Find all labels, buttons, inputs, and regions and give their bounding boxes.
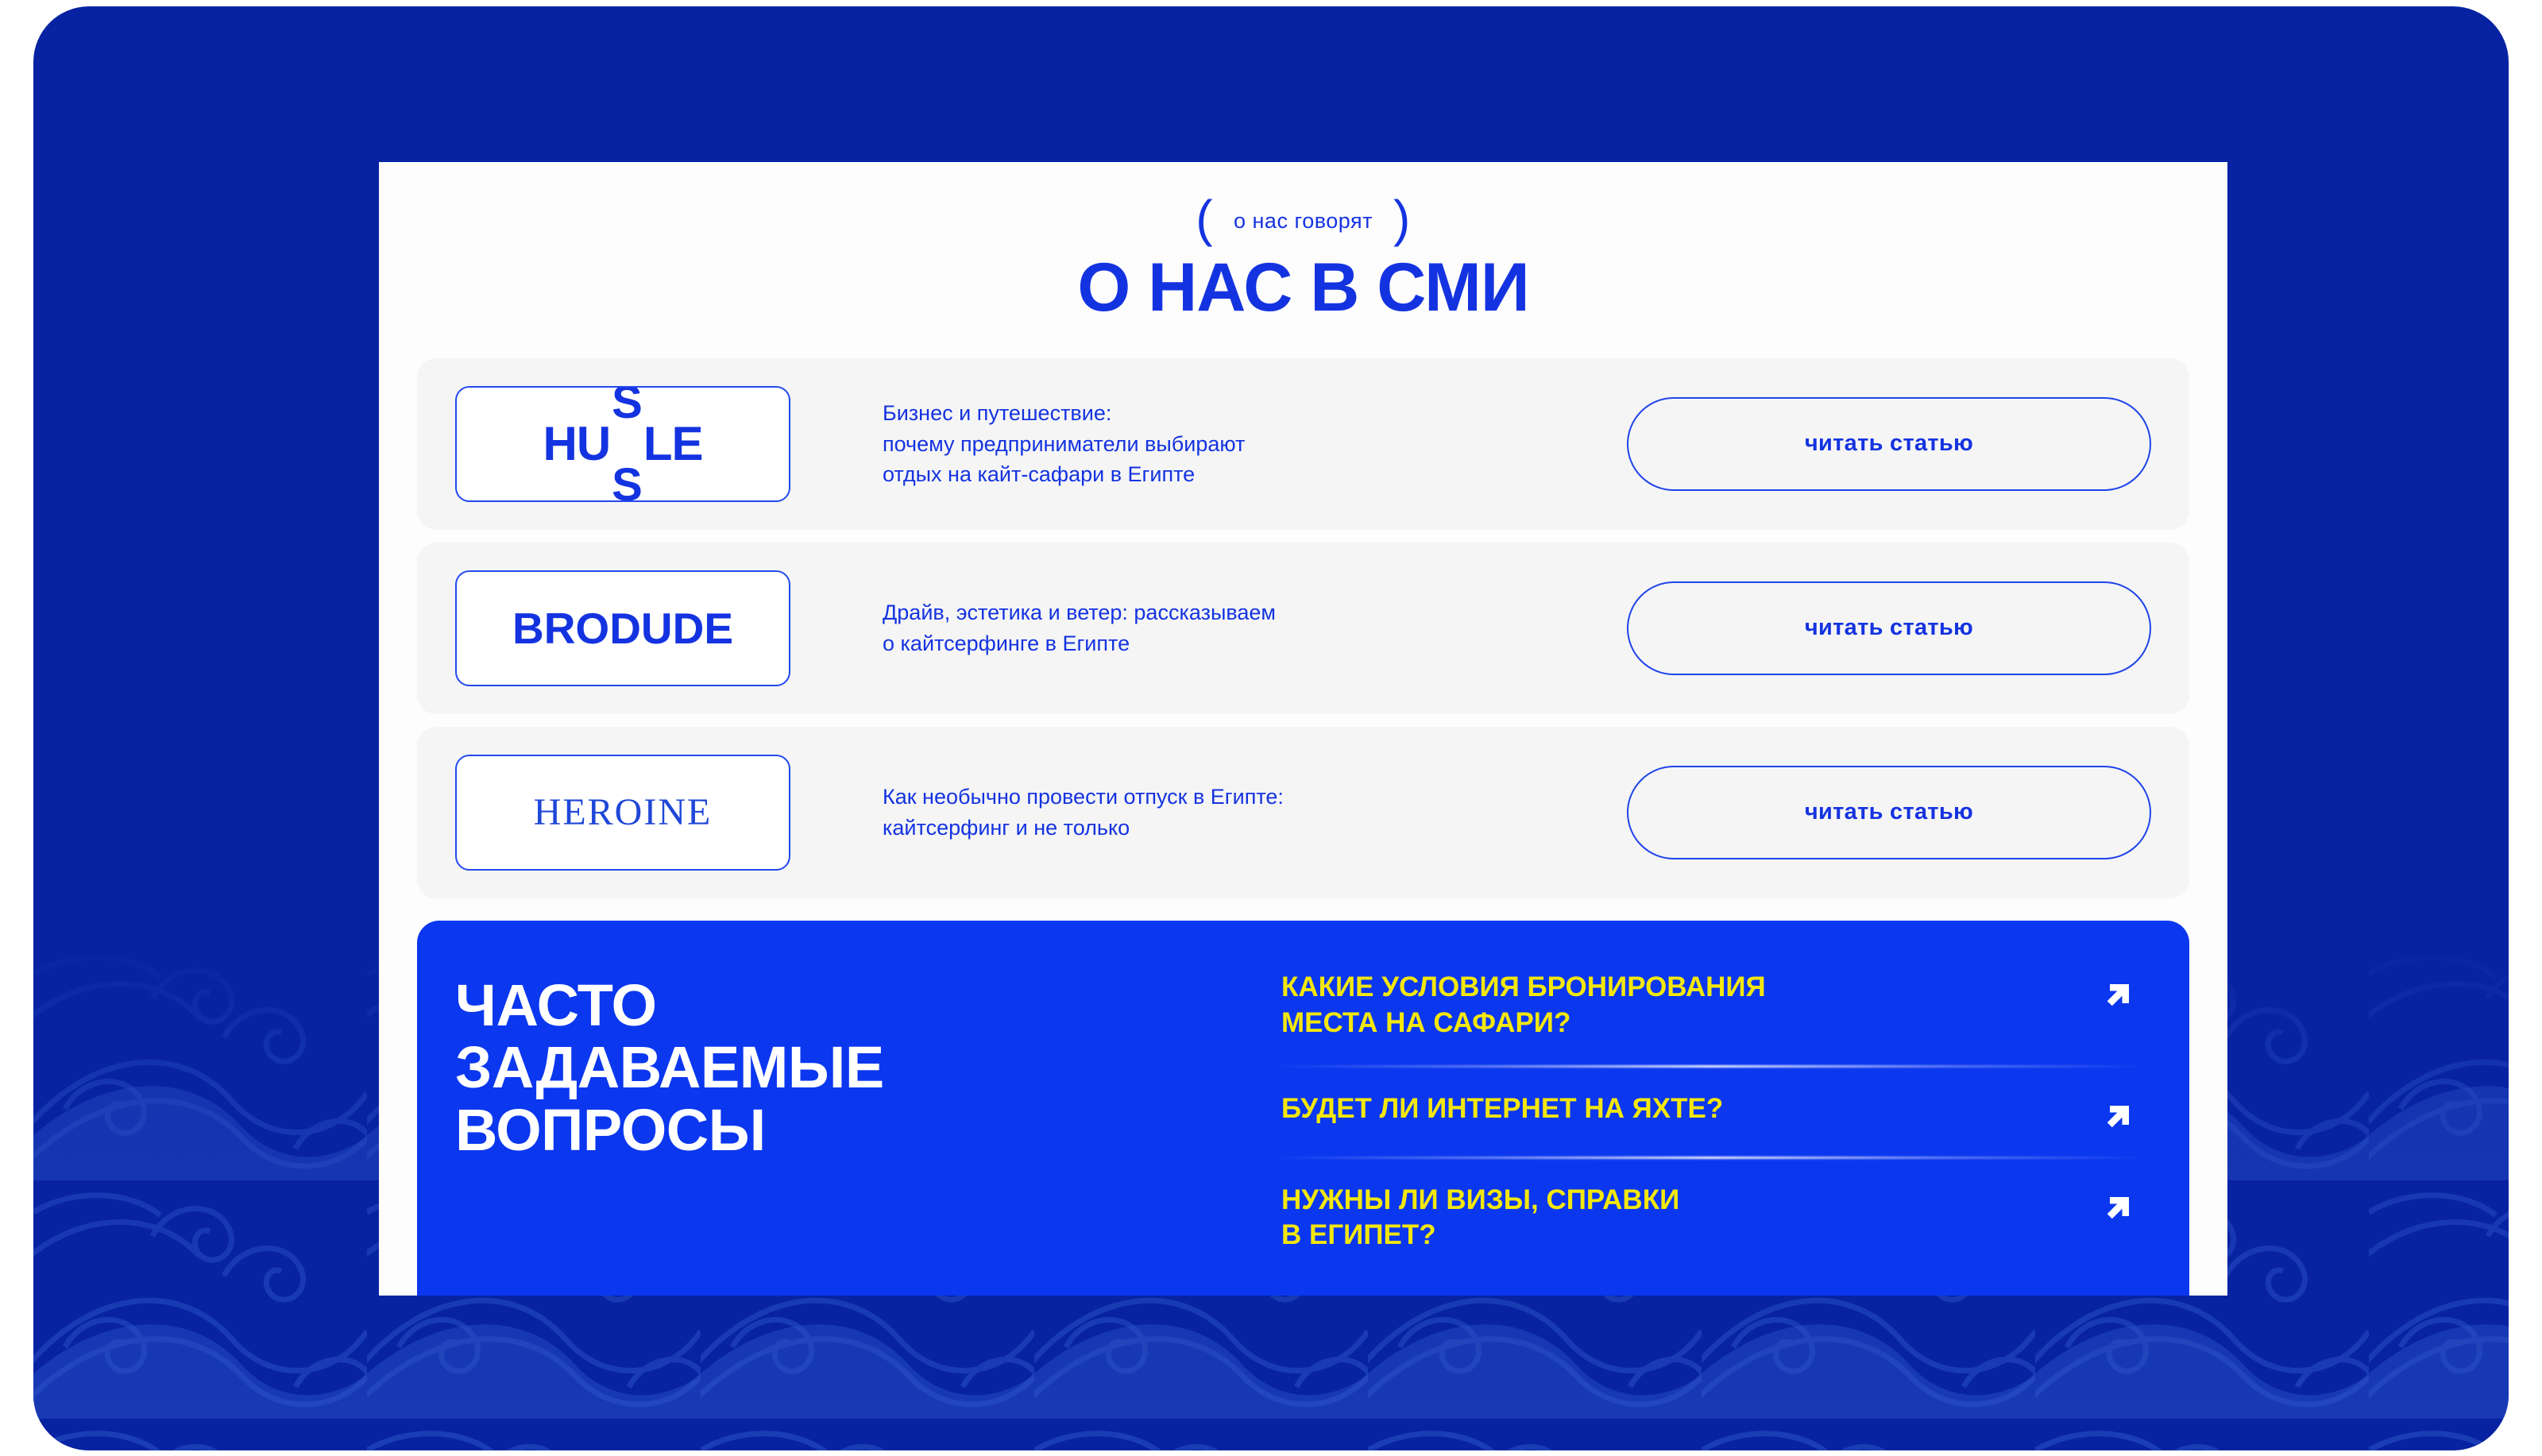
hussle-logo-lead: HU [543,420,610,468]
arrow-up-right-icon [2102,1096,2138,1133]
faq-divider [1281,1065,2138,1068]
hussle-logo-tail: LE [643,420,703,468]
hussle-logo-stack-bottom: S [612,471,642,500]
read-article-button[interactable]: читать статью [1627,766,2151,859]
faq-question: БУДЕТ ЛИ ИНТЕРНЕТ НА ЯХТЕ? [1281,1091,1723,1127]
press-headline: Как необычно провести отпуск в Египте: к… [883,782,1597,843]
faq-divider [1281,1157,2138,1159]
press-row[interactable]: HU S S LE Бизнес и путешествие: почему п… [417,358,2189,530]
faq-section: ЧАСТО ЗАДАВАЕМЫЕ ВОПРОСЫ КАКИЕ УСЛОВИЯ Б… [417,921,2189,1296]
press-headline: Бизнес и путешествие: почему предпринима… [883,398,1597,489]
press-headline: Драйв, эстетика и ветер: рассказываем о … [883,597,1597,658]
faq-item-list: КАКИЕ УСЛОВИЯ БРОНИРОВАНИЯ МЕСТА НА САФА… [1281,965,2138,1296]
read-article-button[interactable]: читать статью [1627,397,2151,491]
hussle-logo-text: HU S S LE [543,415,702,473]
faq-title: ЧАСТО ЗАДАВАЕМЫЕ ВОПРОСЫ [455,965,1250,1296]
arrow-up-right-icon [2102,975,2138,1011]
eyebrow-label: о нас говорят [1234,209,1373,234]
content-panel: ( о нас говорят ) О НАС В СМИ HU S S LE [379,162,2227,1296]
brodude-logo: BRODUDE [455,570,790,686]
faq-question: НУЖНЫ ЛИ ВИЗЫ, СПРАВКИ В ЕГИПЕТ? [1281,1183,1679,1254]
paren-right-icon: ) [1393,201,1411,237]
paren-left-icon: ( [1196,201,1213,237]
read-article-button[interactable]: читать статью [1627,581,2151,675]
hussle-logo-stack: S S [612,415,642,473]
hussle-logo: HU S S LE [455,386,790,502]
hussle-logo-stack-top: S [612,388,642,417]
press-list: HU S S LE Бизнес и путешествие: почему п… [417,358,2189,898]
brodude-logo-text: BRODUDE [512,603,733,654]
arrow-up-right-icon [2102,1188,2138,1224]
page-title: О НАС В СМИ [379,253,2227,322]
faq-item-internet-on-yacht[interactable]: БУДЕТ ЛИ ИНТЕРНЕТ НА ЯХТЕ? [1281,1091,2138,1133]
press-row[interactable]: HEROINE Как необычно провести отпуск в Е… [417,727,2189,898]
section-eyebrow: ( о нас говорят ) [379,203,2227,239]
heroine-logo: HEROINE [455,755,790,871]
faq-item-visa-documents[interactable]: НУЖНЫ ЛИ ВИЗЫ, СПРАВКИ В ЕГИПЕТ? [1281,1183,2138,1254]
faq-item-booking-conditions[interactable]: КАКИЕ УСЛОВИЯ БРОНИРОВАНИЯ МЕСТА НА САФА… [1281,965,2138,1041]
heroine-logo-text: HEROINE [534,790,713,834]
faq-question: КАКИЕ УСЛОВИЯ БРОНИРОВАНИЯ МЕСТА НА САФА… [1281,970,1766,1041]
page-stage: ( о нас говорят ) О НАС В СМИ HU S S LE [33,6,2509,1450]
press-row[interactable]: BRODUDE Драйв, эстетика и ветер: рассказ… [417,543,2189,714]
